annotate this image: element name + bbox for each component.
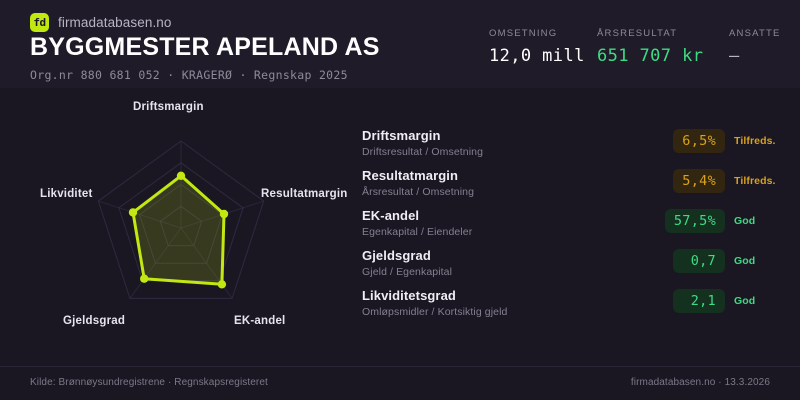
kpi-arsresultat: ÅRSRESULTAT 651 707 kr [597, 28, 703, 66]
kpi-omsetning: OMSETNING 12,0 mill [489, 28, 585, 66]
radar-data-point [220, 210, 228, 218]
metric-row-driftsmargin[interactable]: Driftsmargin Driftsresultat / Omsetning … [362, 128, 786, 168]
fd-logo-icon: fd [30, 13, 49, 32]
metric-row-likviditetsgrad[interactable]: Likviditetsgrad Omløpsmidler / Kortsikti… [362, 288, 786, 328]
kpi-ansatte: ANSATTE – [729, 28, 781, 66]
metric-value-badge: 6,5% [673, 129, 725, 153]
kpi-label: OMSETNING [489, 28, 585, 39]
status-badge: God [734, 215, 786, 227]
kpi-value: 12,0 mill [489, 46, 585, 66]
status-badge: Tilfreds. [734, 135, 786, 147]
metric-value-badge: 2,1 [673, 289, 725, 313]
footer-source: Kilde: Brønnøysundregistrene · Regnskaps… [30, 377, 268, 388]
kpi-label: ANSATTE [729, 28, 781, 39]
kpi-value: 651 707 kr [597, 46, 703, 66]
radar-data-point [129, 208, 137, 216]
metric-value-badge: 5,4% [673, 169, 725, 193]
radar-chart: Driftsmargin Resultatmargin EK-andel Gje… [0, 88, 350, 353]
status-badge: Tilfreds. [734, 175, 786, 187]
org-number-text: Org.nr 880 681 052 · KRAGERØ · Regnskap … [30, 68, 348, 82]
metric-value-badge: 0,7 [673, 249, 725, 273]
status-badge: God [734, 295, 786, 307]
radar-chart-svg [0, 88, 350, 353]
metric-row-resultatmargin[interactable]: Resultatmargin Årsresultat / Omsetning 5… [362, 168, 786, 208]
brand[interactable]: fd firmadatabasen.no [30, 13, 172, 32]
footer-attribution: firmadatabasen.no · 13.3.2026 [631, 377, 770, 388]
kpi-label: ÅRSRESULTAT [597, 28, 703, 39]
radar-axis-label-gjeldsgrad: Gjeldsgrad [63, 315, 125, 327]
radar-axis-label-resultatmargin: Resultatmargin [261, 188, 348, 200]
page-title: BYGGMESTER APELAND AS [30, 33, 380, 62]
metric-row-ek-andel[interactable]: EK-andel Egenkapital / Eiendeler 57,5% G… [362, 208, 786, 248]
radar-axis-label-ek-andel: EK-andel [234, 315, 285, 327]
footer: Kilde: Brønnøysundregistrene · Regnskaps… [0, 366, 800, 400]
site-name: firmadatabasen.no [58, 15, 172, 30]
radar-data-point [218, 280, 226, 288]
kpi-value: – [729, 46, 781, 66]
metric-value-badge: 57,5% [665, 209, 725, 233]
radar-data-point [140, 275, 148, 283]
metric-row-gjeldsgrad[interactable]: Gjeldsgrad Gjeld / Egenkapital 0,7 God [362, 248, 786, 288]
report-card: fd firmadatabasen.no BYGGMESTER APELAND … [0, 0, 800, 400]
status-badge: God [734, 255, 786, 267]
radar-data-point [177, 172, 185, 180]
radar-axis-label-likviditet: Likviditet [40, 188, 92, 200]
header: fd firmadatabasen.no BYGGMESTER APELAND … [0, 0, 800, 88]
company-meta: Org.nr 880 681 052 · KRAGERØ · Regnskap … [30, 68, 348, 82]
radar-axis-label-driftsmargin: Driftsmargin [133, 101, 204, 113]
metrics-list: Driftsmargin Driftsresultat / Omsetning … [362, 128, 786, 328]
radar-data-area [133, 176, 224, 284]
